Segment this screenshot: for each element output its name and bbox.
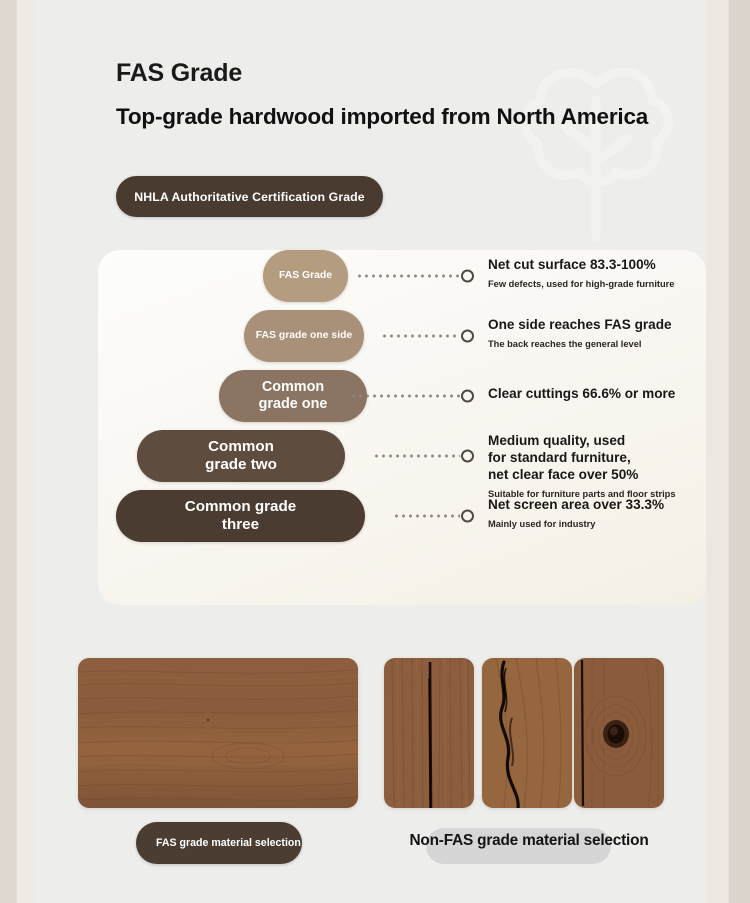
grade-description: One side reaches FAS gradeThe back reach… [488, 316, 672, 350]
grades-card: FAS GradeNet cut surface 83.3-100%Few de… [98, 250, 706, 605]
grade-pill[interactable]: FAS Grade [263, 250, 348, 302]
tree-watermark-icon [496, 22, 696, 242]
grade-description-title: Clear cuttings 66.6% or more [488, 385, 675, 402]
grade-row: FAS GradeNet cut surface 83.3-100%Few de… [98, 250, 706, 302]
grade-row: Common grade oneClear cuttings 66.6% or … [98, 370, 706, 422]
nonfas-material-caption: Non-FAS grade material selection [384, 832, 674, 850]
main-panel: FAS Grade Top-grade hardwood imported fr… [34, 0, 706, 903]
grade-pill[interactable]: Common grade one [219, 370, 367, 422]
page-subtitle: Top-grade hardwood imported from North A… [116, 102, 661, 132]
grade-row: Common grade twoMedium quality, used for… [98, 430, 706, 482]
grade-row: FAS grade one sideOne side reaches FAS g… [98, 310, 706, 362]
fas-wood-board [78, 658, 358, 808]
grade-description: Clear cuttings 66.6% or more [488, 385, 675, 402]
page-background: FAS Grade Top-grade hardwood imported fr… [0, 0, 750, 903]
connector-ring-icon [461, 510, 474, 523]
grade-description-title: Net cut surface 83.3-100% [488, 256, 674, 273]
grade-description-title: Medium quality, used for standard furnit… [488, 432, 676, 483]
grade-description: Net screen area over 33.3%Mainly used fo… [488, 496, 664, 530]
grade-row: Common grade threeNet screen area over 3… [98, 490, 706, 542]
connector-ring-icon [461, 330, 474, 343]
grade-pill[interactable]: FAS grade one side [244, 310, 364, 362]
grade-description-title: Net screen area over 33.3% [488, 496, 664, 513]
grade-description-title: One side reaches FAS grade [488, 316, 672, 333]
grade-description-sub: Mainly used for industry [488, 518, 664, 530]
grade-description: Net cut surface 83.3-100%Few defects, us… [488, 256, 674, 290]
connector-ring-icon [461, 390, 474, 403]
nhla-certification-badge[interactable]: NHLA Authoritative Certification Grade [116, 176, 383, 217]
fas-material-caption: FAS grade material selection [136, 822, 302, 864]
connector-dots [350, 395, 460, 398]
nonfas-sample-mineral-streak [482, 658, 572, 808]
grade-pill[interactable]: Common grade two [137, 430, 345, 482]
page-title: FAS Grade [116, 60, 676, 88]
grade-pill[interactable]: Common grade three [116, 490, 365, 542]
grade-description-sub: The back reaches the general level [488, 338, 672, 350]
connector-ring-icon [461, 270, 474, 283]
connector-dots [381, 335, 460, 338]
connector-ring-icon [461, 450, 474, 463]
grade-description-sub: Few defects, used for high-grade furnitu… [488, 278, 674, 290]
connector-dots [356, 275, 460, 278]
connector-dots [373, 455, 460, 458]
nonfas-sample-knot-hole [574, 658, 664, 808]
nonfas-sample-split-crack [384, 658, 474, 808]
connector-dots [393, 515, 460, 518]
header: FAS Grade Top-grade hardwood imported fr… [116, 60, 676, 131]
